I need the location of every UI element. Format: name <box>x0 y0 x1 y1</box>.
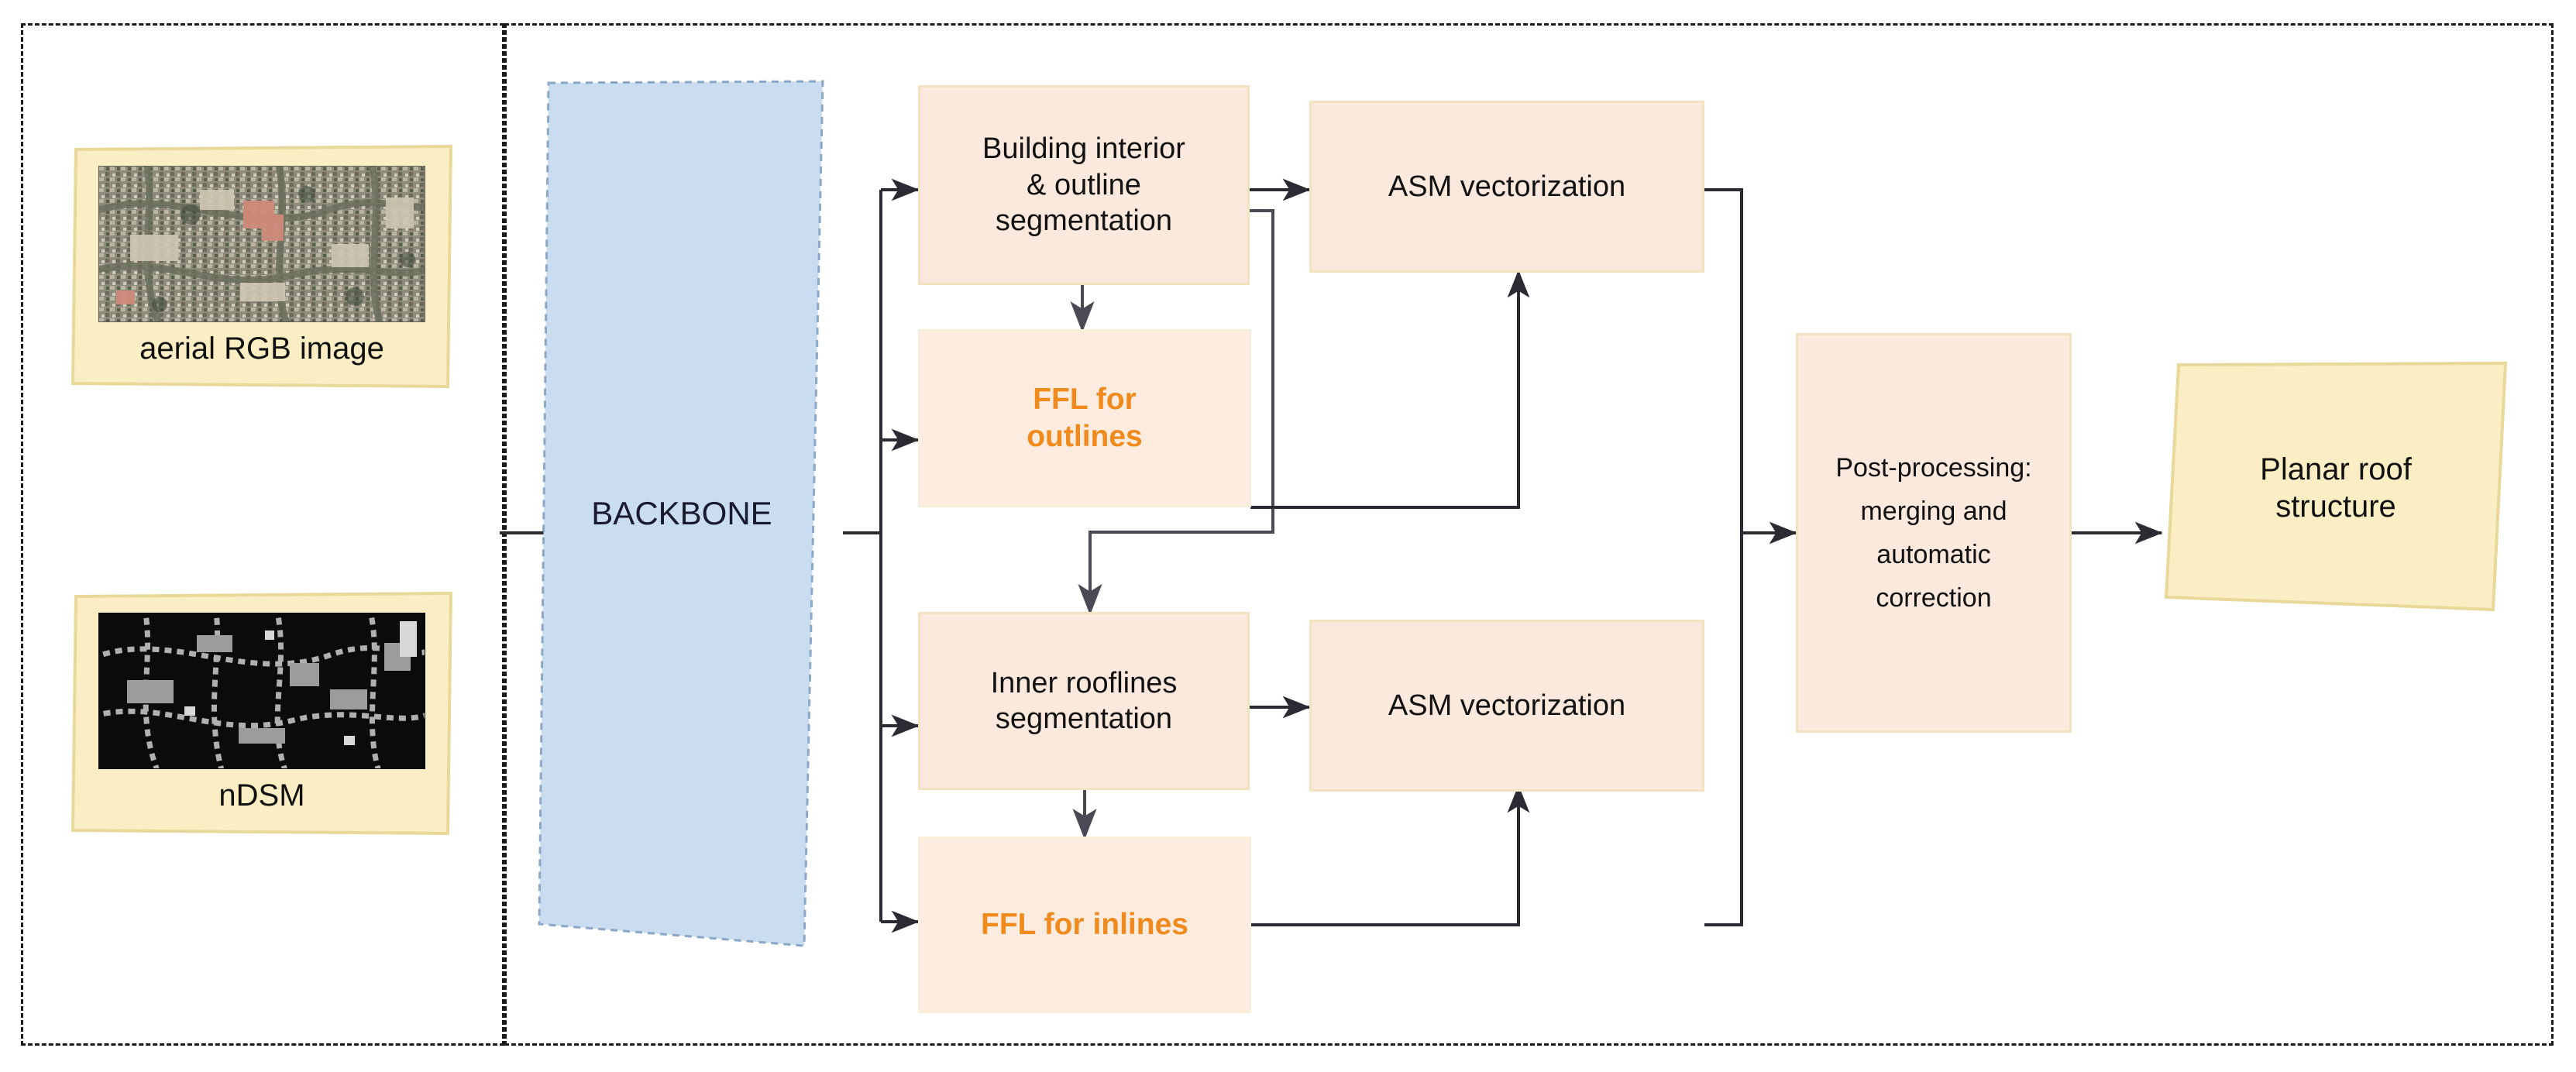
planar-roof-structure-card: Planar roof structure <box>2162 360 2510 616</box>
ndsm-thumbnail <box>98 613 425 769</box>
node-label: ASM vectorization <box>1388 688 1625 723</box>
node-label: Inner rooflines segmentation <box>991 665 1178 737</box>
planar-roof-caption: Planar roof structure <box>2260 451 2412 525</box>
node-inner-rooflines-segmentation: Inner rooflines segmentation <box>918 612 1250 790</box>
aerial-rgb-thumbnail <box>98 166 425 322</box>
node-label: Building interior & outline segmentation <box>982 131 1185 239</box>
node-label: Post-processing: merging and automatic c… <box>1835 446 2031 620</box>
ndsm-caption: nDSM <box>218 777 304 814</box>
aerial-rgb-image-card: aerial RGB image <box>68 142 456 391</box>
node-ffl-for-inlines: FFL for inlines <box>918 837 1251 1013</box>
figure-canvas: aerial RGB image <box>0 0 2576 1072</box>
node-label: FFL for inlines <box>981 906 1188 943</box>
backbone-label: BACKBONE <box>535 80 829 947</box>
backbone-block: BACKBONE <box>535 80 829 947</box>
node-post-processing: Post-processing: merging and automatic c… <box>1796 333 2072 733</box>
aerial-rgb-caption: aerial RGB image <box>139 330 384 367</box>
node-ffl-for-outlines: FFL for outlines <box>918 329 1251 507</box>
node-label: FFL for outlines <box>1027 381 1143 455</box>
node-asm-vectorization-bottom: ASM vectorization <box>1309 620 1704 792</box>
node-label: ASM vectorization <box>1388 169 1625 204</box>
node-asm-vectorization-top: ASM vectorization <box>1309 101 1704 273</box>
ndsm-card: nDSM <box>68 589 456 838</box>
node-building-interior-outline-segmentation: Building interior & outline segmentation <box>918 85 1250 285</box>
